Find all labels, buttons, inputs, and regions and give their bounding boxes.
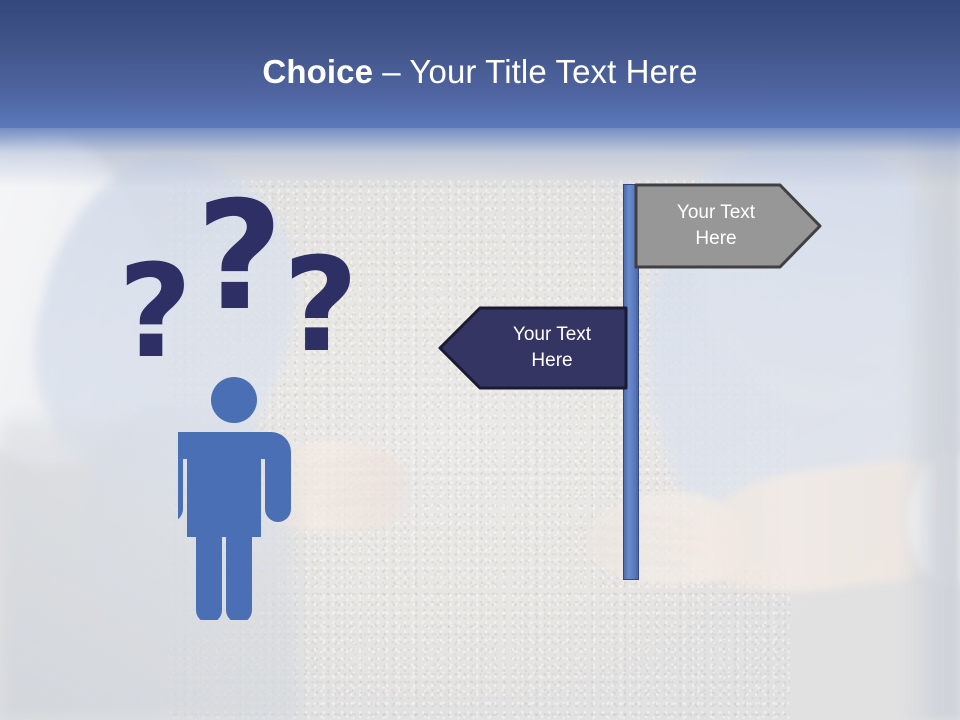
question-mark-right: ? <box>283 240 358 370</box>
page-title-emphasis: Choice <box>262 53 373 90</box>
page-title: Choice – Your Title Text Here <box>0 52 960 92</box>
question-mark-center: ? <box>196 182 283 332</box>
page-title-rest: – Your Title Text Here <box>373 53 698 90</box>
sign-right[interactable]: Your Text Here <box>634 183 822 269</box>
sign-left[interactable]: Your Text Here <box>438 306 628 390</box>
title-banner-fade <box>0 128 960 188</box>
presentation-slide: Choice – Your Title Text Here ? ? ? Your… <box>0 0 960 720</box>
person-icon <box>178 376 293 620</box>
question-mark-left: ? <box>118 249 192 377</box>
